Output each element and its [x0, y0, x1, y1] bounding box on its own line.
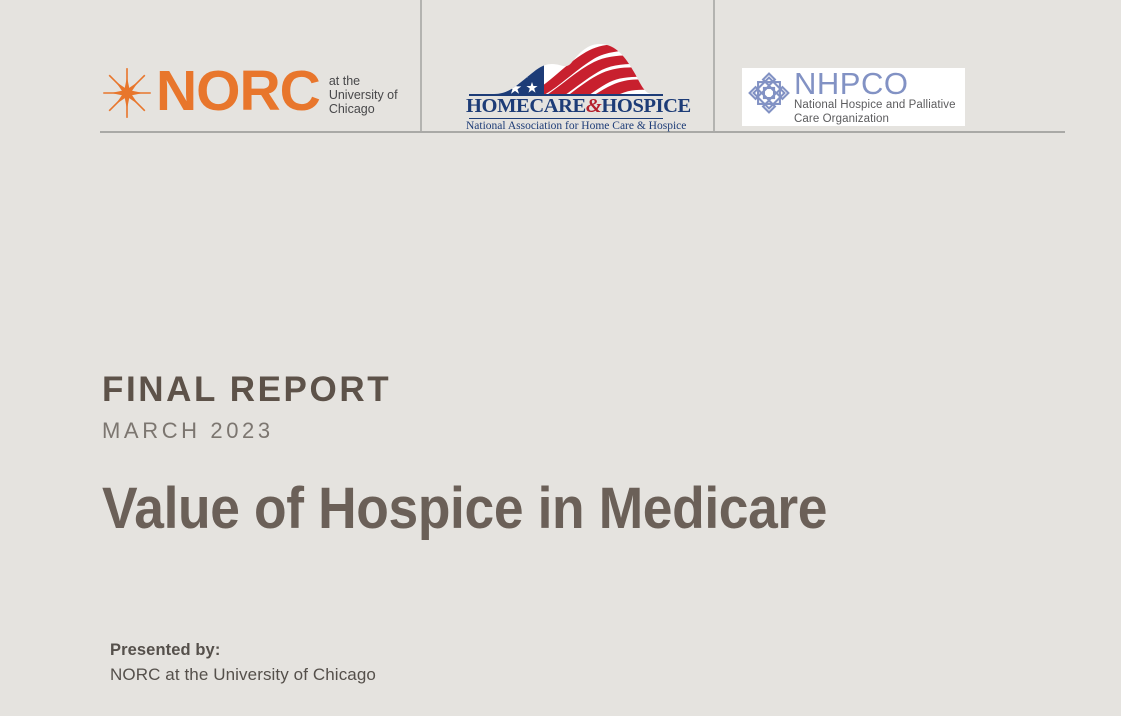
homecare-hospice-ampersand: & — [586, 95, 602, 117]
header-divider-2 — [713, 0, 715, 131]
homecare-hospice-tagline: National Association for Home Care & Hos… — [466, 119, 666, 133]
nhpco-tagline: National Hospice and Palliative Care Org… — [794, 99, 956, 126]
presented-by-block: Presented by: NORC at the University of … — [110, 638, 376, 688]
report-kicker: FINAL REPORT — [102, 368, 890, 412]
homecare-hospice-logo: HOMECARE&HOSPICE National Association fo… — [466, 44, 666, 130]
report-date: MARCH 2023 — [102, 414, 890, 448]
presented-by-label: Presented by: — [110, 638, 376, 662]
homecare-hospice-wordmark-part2: HOSPICE — [601, 95, 690, 117]
norc-logo: NORC at the University of Chicago — [100, 66, 398, 120]
presented-by-organization: NORC at the University of Chicago — [110, 662, 376, 688]
american-flag-house-icon — [466, 44, 666, 94]
norc-tagline: at the University of Chicago — [329, 74, 398, 116]
nhpco-wordmark: NHPCO — [794, 69, 956, 99]
homecare-hospice-wordmark: HOMECARE&HOSPICE — [466, 96, 666, 117]
homecare-hospice-wordmark-part1: HOMECARE — [466, 95, 586, 117]
norc-wordmark: NORC — [156, 63, 320, 120]
nhpco-logo: NHPCO National Hospice and Palliative Ca… — [742, 68, 965, 126]
header-divider-1 — [420, 0, 422, 131]
page-title: Value of Hospice in Medicare — [102, 474, 827, 544]
starburst-icon — [100, 66, 154, 120]
header-logo-bar: NORC at the University of Chicago — [0, 0, 1121, 132]
rosette-star-icon — [748, 72, 790, 114]
cover-title-block: FINAL REPORT MARCH 2023 Value of Hospice… — [102, 368, 890, 544]
